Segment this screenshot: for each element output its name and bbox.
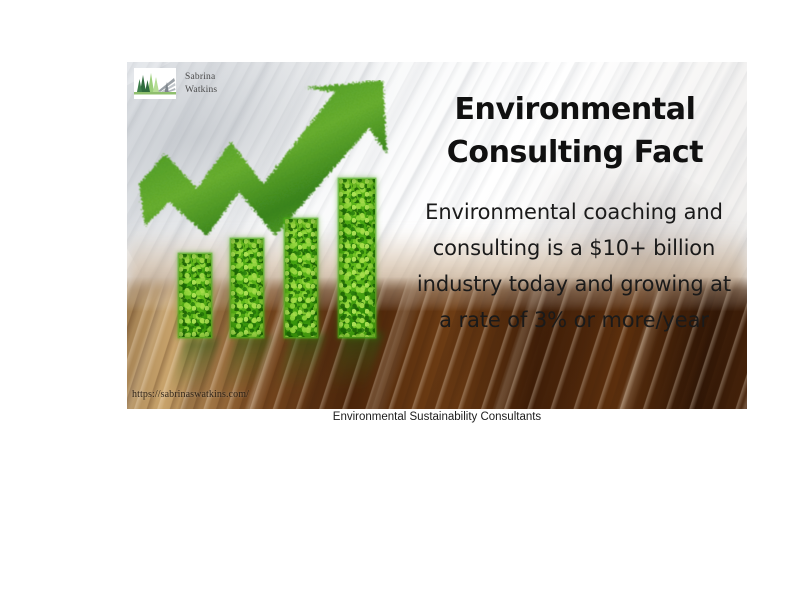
- bar-1-reflection: [169, 339, 219, 391]
- brand-name: Sabrina Watkins: [185, 71, 217, 97]
- bar-1: [179, 254, 211, 337]
- poster-body-text: Environmental coaching and consulting is…: [415, 194, 733, 338]
- bar-4: [339, 179, 375, 337]
- bar-2: [231, 239, 263, 337]
- bar-3: [285, 219, 317, 337]
- page-root: Sabrina Watkins Environmental Consulting…: [0, 0, 800, 600]
- bar-4-reflection: [328, 333, 384, 391]
- brand-logo-badge: Sabrina Watkins: [134, 68, 217, 99]
- bar-3-reflection: [274, 335, 325, 391]
- trees-and-road-logo-icon: [134, 68, 176, 99]
- poster-image: Sabrina Watkins Environmental Consulting…: [127, 62, 747, 409]
- watermark-url: https://sabrinaswatkins.com/: [132, 389, 249, 400]
- image-caption: Environmental Sustainability Consultants: [127, 411, 747, 423]
- poster-headline: Environmental Consulting Fact: [419, 88, 731, 174]
- bar-2-reflection: [221, 337, 272, 391]
